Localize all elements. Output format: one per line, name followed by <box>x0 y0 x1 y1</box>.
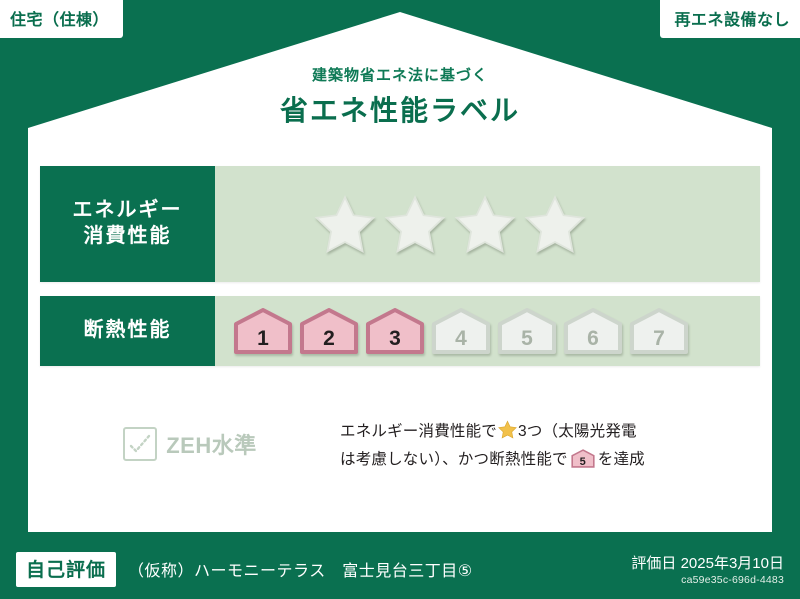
insulation-grade-badge: 4 <box>431 308 491 354</box>
description-line-2: は考慮しない）、かつ断熱性能で 5 を達成 <box>340 446 760 474</box>
insulation-grade-badge: 1 <box>233 308 293 354</box>
description-line1-suffix: 3つ（太陽光発電 <box>518 423 637 440</box>
building-name-text: （仮称）ハーモニーテラス 富士見台三丁目⑤ <box>128 557 473 581</box>
checkbox-unchecked-icon <box>123 427 157 461</box>
description-line2-prefix: は考慮しない）、かつ断熱性能で <box>340 451 568 468</box>
inline-grade-badge: 5 <box>571 449 595 468</box>
star-icon <box>498 420 517 438</box>
summary-section: ZEH水準 エネルギー消費性能で 3つ（太陽光発電 は考慮しない）、かつ断熱性能… <box>40 418 760 473</box>
footer-left-group: 自己評価 （仮称）ハーモニーテラス 富士見台三丁目⑤ <box>0 552 631 587</box>
insulation-label-line1: 断熱性能 <box>84 318 172 344</box>
insulation-performance-row: 断熱性能 1234567 <box>40 296 760 366</box>
description-line2-suffix: を達成 <box>598 451 645 468</box>
insulation-grade-badge: 7 <box>629 308 689 354</box>
insulation-grade-badge: 6 <box>563 308 623 354</box>
zeh-standard-block: ZEH水準 <box>40 418 340 461</box>
building-type-tag: 住宅（住棟） <box>0 0 123 38</box>
insulation-grade-badge: 5 <box>497 308 557 354</box>
star-icon <box>453 193 517 255</box>
evaluation-date: 評価日 2025年3月10日 <box>631 552 784 573</box>
page-title: 省エネ性能ラベル <box>0 89 800 129</box>
energy-performance-row: エネルギー 消費性能 <box>40 166 760 282</box>
insulation-grade-badge: 3 <box>365 308 425 354</box>
zeh-standard-label: ZEH水準 <box>166 428 257 460</box>
renewable-equipment-tag: 再エネ設備なし <box>660 0 800 38</box>
energy-performance-label: 住宅（住棟） 再エネ設備なし 建築物省エネ法に基づく 省エネ性能ラベル エネルギ… <box>0 0 800 599</box>
energy-label-line1: エネルギー <box>73 198 183 224</box>
insulation-grade-track: 1234567 <box>215 296 760 366</box>
evaluation-id: ca59e35c-696d-4483 <box>681 574 784 586</box>
description-line1-prefix: エネルギー消費性能で <box>340 423 497 440</box>
title-block: 建築物省エネ法に基づく 省エネ性能ラベル <box>0 64 800 129</box>
inline-grade-badge-value: 5 <box>571 457 595 468</box>
star-icon <box>523 193 587 255</box>
description-line-1: エネルギー消費性能で 3つ（太陽光発電 <box>340 418 760 446</box>
self-evaluation-badge: 自己評価 <box>16 552 116 587</box>
energy-performance-label: エネルギー 消費性能 <box>40 166 215 282</box>
energy-label-line2: 消費性能 <box>84 224 172 250</box>
label-footer: 自己評価 （仮称）ハーモニーテラス 富士見台三丁目⑤ 評価日 2025年3月10… <box>0 539 800 599</box>
footer-right-group: 評価日 2025年3月10日 ca59e35c-696d-4483 <box>631 552 800 586</box>
star-icon <box>313 193 377 255</box>
achievement-description: エネルギー消費性能で 3つ（太陽光発電 は考慮しない）、かつ断熱性能で 5 を達… <box>340 418 760 473</box>
insulation-grade-badge: 2 <box>299 308 359 354</box>
insulation-performance-label: 断熱性能 <box>40 296 215 366</box>
star-rating-track <box>215 166 760 282</box>
title-subtitle: 建築物省エネ法に基づく <box>0 64 800 85</box>
star-icon <box>383 193 447 255</box>
